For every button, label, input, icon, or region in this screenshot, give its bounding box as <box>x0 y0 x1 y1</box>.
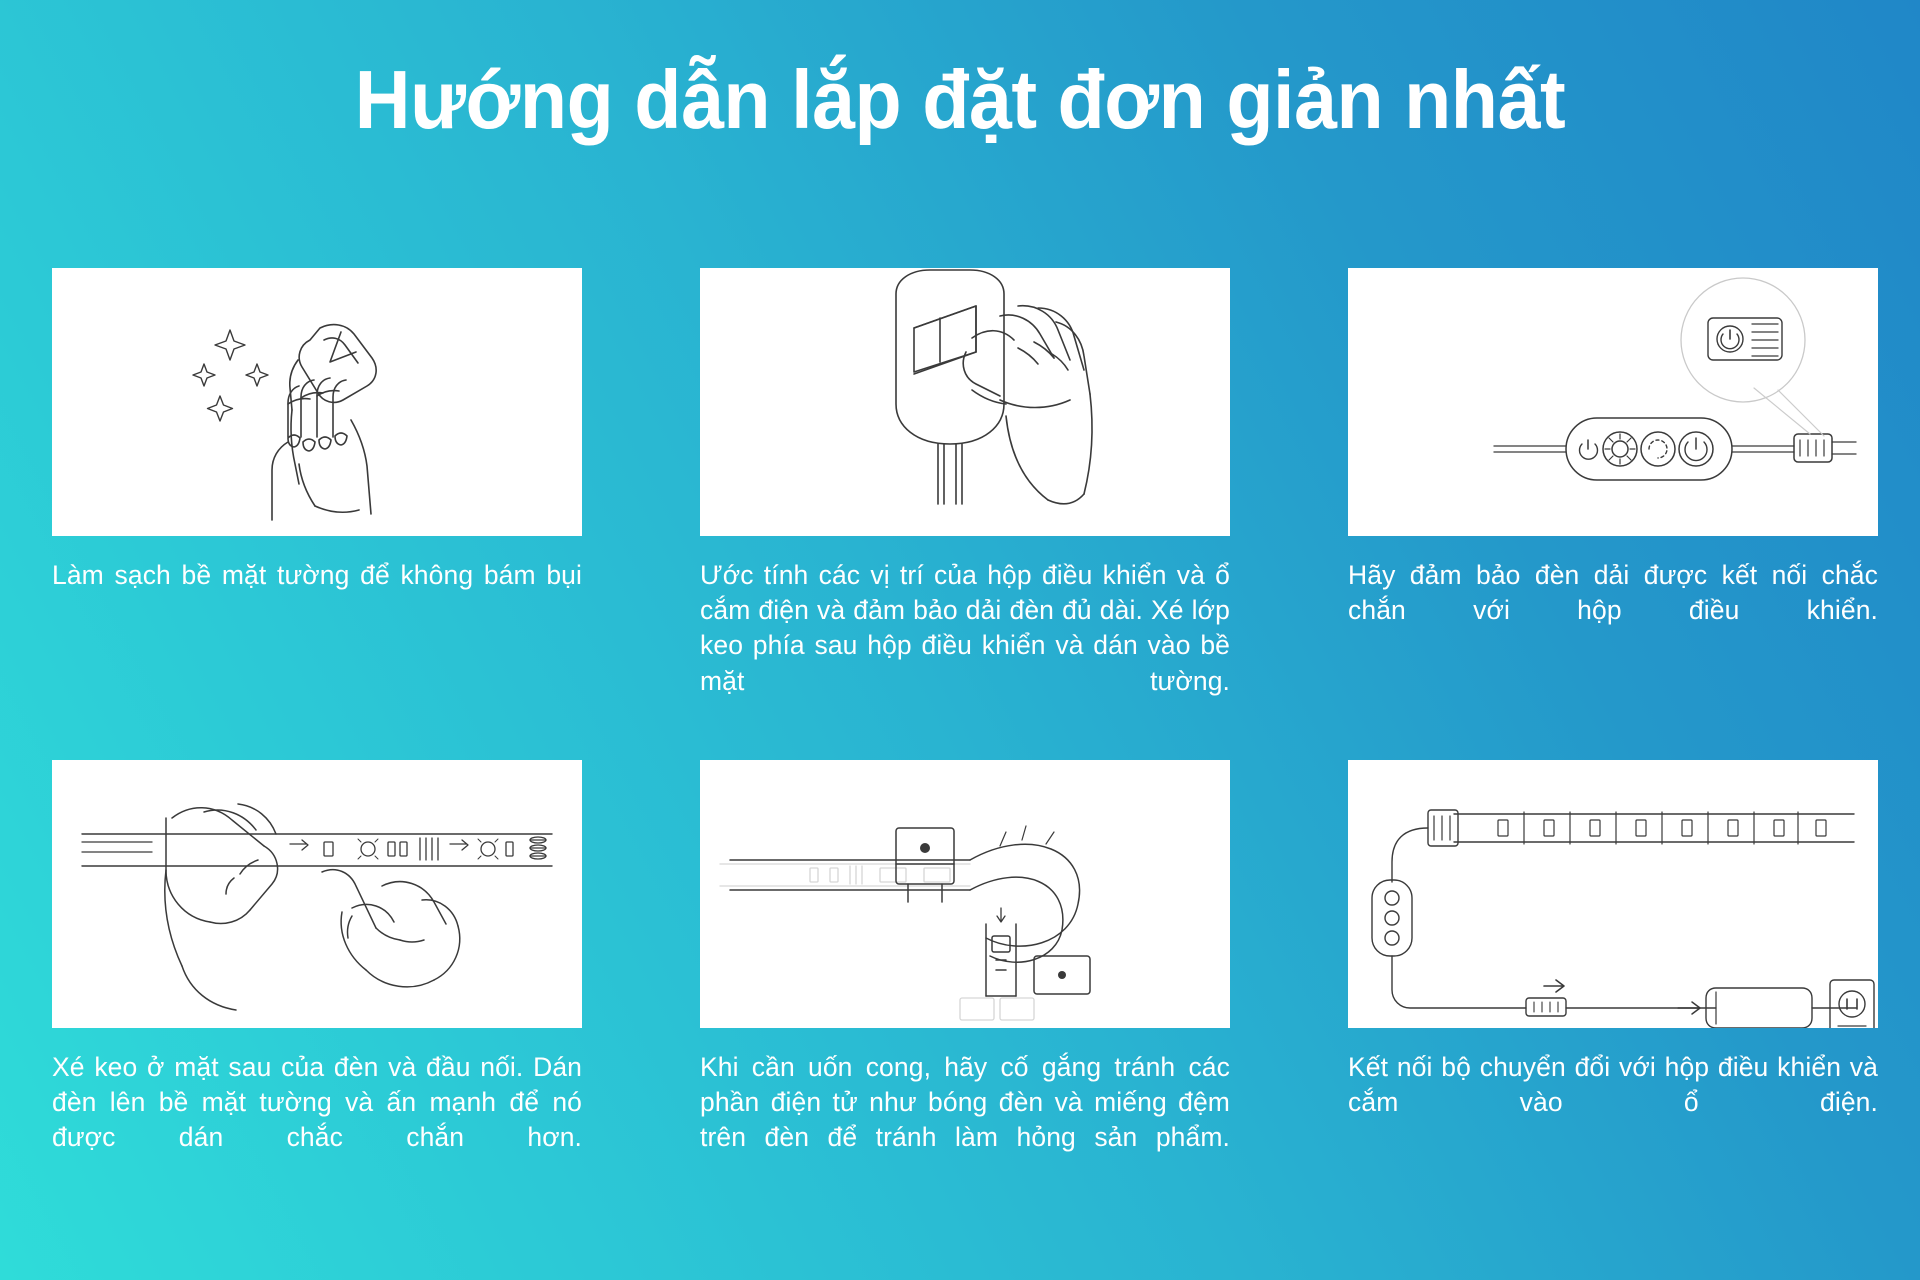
hand-wiping-wall-with-cloth-and-sparkles-icon <box>52 268 582 536</box>
step-card-6: Kết nối bộ chuyển đổi với hộp điều khiển… <box>1348 760 1878 1191</box>
step-caption-6: Kết nối bộ chuyển đổi với hộp điều khiển… <box>1348 1050 1878 1156</box>
two-hands-peeling-adhesive-tape-from-led-strip-icon <box>52 760 582 1028</box>
step-illustration-4 <box>52 760 582 1028</box>
step-card-5: Khi cần uốn cong, hãy cố gắng tránh các … <box>700 760 1230 1191</box>
steps-row-top: Làm sạch bề mặt tường để không bám bụi <box>52 268 1872 734</box>
step-illustration-3 <box>1348 268 1878 536</box>
step-illustration-5 <box>700 760 1230 1028</box>
page-title: Hướng dẫn lắp đặt đơn giản nhất <box>67 0 1853 141</box>
led-strip-controller-power-adapter-plugged-into-wall-socket-icon <box>1348 760 1878 1028</box>
hand-peeling-adhesive-backing-from-controller-box-icon <box>700 268 1230 536</box>
step-caption-2: Ước tính các vị trí của hộp điều khiển v… <box>700 558 1230 734</box>
step-illustration-1 <box>52 268 582 536</box>
step-card-3: Hãy đảm bảo đèn dải được kết nối chắc ch… <box>1348 268 1878 734</box>
step-card-1: Làm sạch bề mặt tường để không bám bụi <box>52 268 582 734</box>
step-caption-4: Xé keo ở mặt sau của đèn và đầu nối. Dán… <box>52 1050 582 1191</box>
steps-row-bottom: Xé keo ở mặt sau của đèn và đầu nối. Dán… <box>52 760 1872 1191</box>
infographic-page: Hướng dẫn lắp đặt đơn giản nhất <box>0 0 1920 1280</box>
step-card-2: Ước tính các vị trí của hộp điều khiển v… <box>700 268 1230 734</box>
controller-remote-connected-to-led-strip-connector-icon <box>1348 268 1878 536</box>
step-card-4: Xé keo ở mặt sau của đèn và đầu nối. Dán… <box>52 760 582 1191</box>
step-illustration-2 <box>700 268 1230 536</box>
step-illustration-6 <box>1348 760 1878 1028</box>
step-caption-1: Làm sạch bề mặt tường để không bám bụi <box>52 558 582 628</box>
led-strip-bent-around-corner-avoiding-components-icon <box>700 760 1230 1028</box>
step-caption-5: Khi cần uốn cong, hãy cố gắng tránh các … <box>700 1050 1230 1191</box>
step-caption-3: Hãy đảm bảo đèn dải được kết nối chắc ch… <box>1348 558 1878 664</box>
